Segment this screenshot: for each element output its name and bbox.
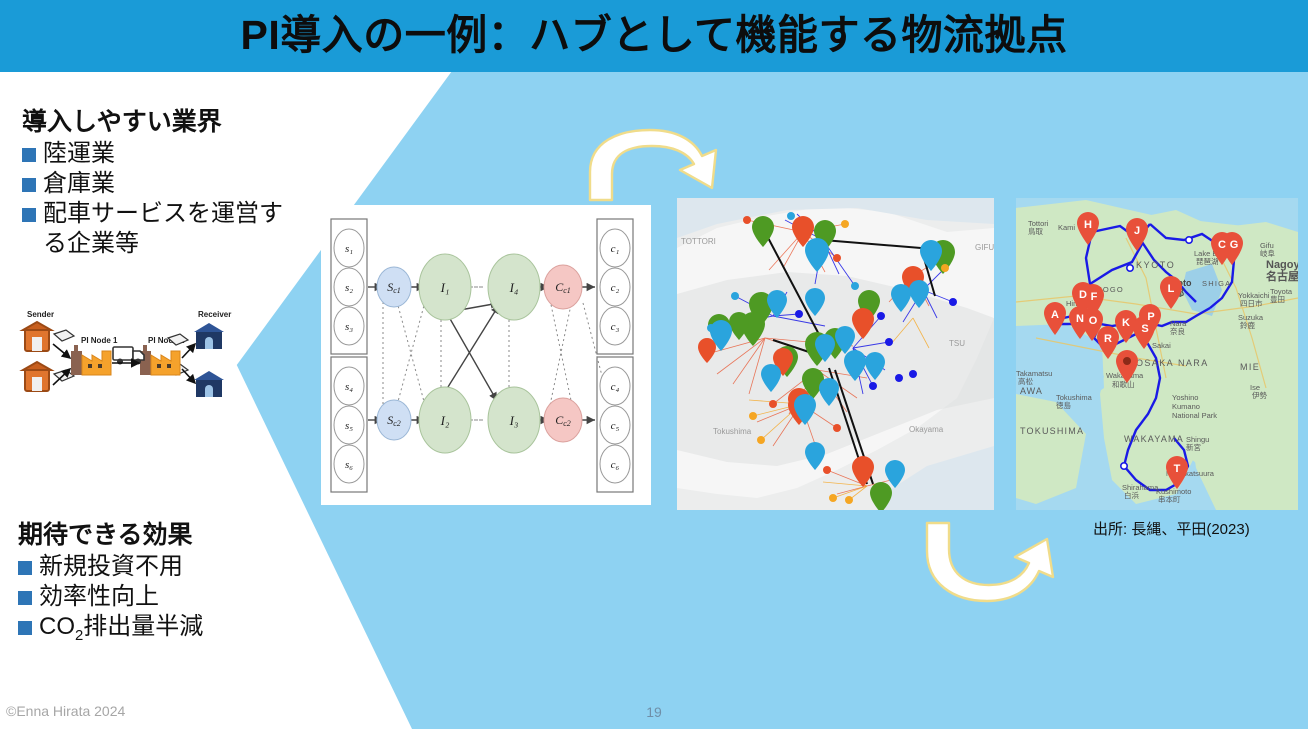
svg-text:s₁: s₁ <box>345 243 353 255</box>
svg-text:岐阜: 岐阜 <box>1260 248 1276 258</box>
svg-text:TOTTORI: TOTTORI <box>681 237 716 246</box>
svg-text:P: P <box>1147 311 1154 323</box>
svg-text:c₅: c₅ <box>611 420 620 432</box>
parcel-icon <box>54 330 74 341</box>
svg-text:s₃: s₃ <box>345 321 353 333</box>
svg-text:s₄: s₄ <box>345 381 353 393</box>
list-item: 効率性向上 <box>18 582 288 611</box>
svg-text:新宮: 新宮 <box>1186 442 1201 452</box>
svg-text:Kumano: Kumano <box>1172 402 1200 411</box>
slide: PI導入の一例：ハブとして機能する物流拠点 導入しやすい業界 陸運業 倉庫業 配… <box>0 0 1308 729</box>
svg-text:NARA: NARA <box>1178 358 1209 368</box>
svg-text:c₄: c₄ <box>611 381 620 393</box>
svg-text:四日市: 四日市 <box>1240 298 1263 308</box>
receiver-store-icon <box>194 323 224 349</box>
svg-text:奈良: 奈良 <box>1170 326 1186 336</box>
pi-node-1-icon <box>71 345 111 375</box>
svg-text:C: C <box>1218 239 1226 251</box>
co2-prefix: CO <box>39 613 75 640</box>
logistics-hub-network-map: TOTTORI GIFU TSU Tokushima Okayama <box>677 198 994 510</box>
svg-text:Nagoya: Nagoya <box>1266 259 1298 271</box>
svg-text:WAKAYAMA: WAKAYAMA <box>1124 434 1184 444</box>
svg-text:AWA: AWA <box>1020 386 1043 396</box>
svg-text:Kami: Kami <box>1058 223 1075 232</box>
page-number: 19 <box>0 704 1308 720</box>
svg-text:Sakai: Sakai <box>1152 341 1171 350</box>
svg-text:SHIGA: SHIGA <box>1202 279 1231 288</box>
pi-label-node1: PI Node 1 <box>81 336 118 345</box>
svg-text:KYOTO: KYOTO <box>1136 260 1175 270</box>
svg-text:N: N <box>1076 313 1084 325</box>
svg-text:I₂: I₂ <box>440 413 450 428</box>
svg-text:Yoshino: Yoshino <box>1172 393 1198 402</box>
svg-text:Tokushima: Tokushima <box>713 427 752 436</box>
kansai-route-map: Tottori 鳥取 Kami Gifu 岐阜 KYOTO Kyoto 京都 S… <box>1016 198 1298 510</box>
svg-text:豊田: 豊田 <box>1270 294 1285 304</box>
curved-arrow-up-icon <box>921 519 1061 603</box>
svg-text:鳥取: 鳥取 <box>1028 226 1044 236</box>
list-item-label: 配車サービスを運営する企業等 <box>43 199 292 258</box>
bullet-square-icon <box>22 208 36 222</box>
intermediate-node <box>419 254 540 453</box>
pi-node-flow-diagram: Sender PI Node 1 PI Node 2 Receiver <box>8 303 240 418</box>
svg-text:I₃: I₃ <box>509 413 519 428</box>
svg-text:c₃: c₃ <box>611 321 620 333</box>
bullet-square-icon <box>22 178 36 192</box>
svg-text:TOKUSHIMA: TOKUSHIMA <box>1020 426 1084 436</box>
svg-text:J: J <box>1134 225 1140 237</box>
svg-text:D: D <box>1079 289 1087 301</box>
svg-text:s₅: s₅ <box>345 420 353 432</box>
source-node <box>334 229 364 483</box>
sender-warehouse-icon <box>23 362 51 391</box>
svg-text:MIE: MIE <box>1240 362 1260 372</box>
effects-block: 期待できる効果 新規投資不用 効率性向上 CO2排出量半減 <box>18 521 288 645</box>
pi-label-sender: Sender <box>27 310 54 319</box>
svg-text:OSAKA: OSAKA <box>1136 358 1174 368</box>
effects-list: 新規投資不用 効率性向上 CO2排出量半減 <box>18 552 288 645</box>
network-diagram-panel: s₁ s₂ s₃ s₄ s₅ s₆ Sc1 Sc2 <box>321 205 651 505</box>
map-source-caption: 出所: 長縄、平田(2023) <box>1093 518 1250 539</box>
pi-label-receiver: Receiver <box>198 310 231 319</box>
svg-text:GIFU: GIFU <box>975 243 994 252</box>
svg-text:鈴鹿: 鈴鹿 <box>1240 320 1256 330</box>
svg-text:伊勢: 伊勢 <box>1252 390 1268 400</box>
svg-text:R: R <box>1104 333 1112 345</box>
svg-text:TSU: TSU <box>949 339 965 348</box>
svg-text:白浜: 白浜 <box>1124 490 1140 500</box>
svg-text:Okayama: Okayama <box>909 425 944 434</box>
industries-block: 導入しやすい業界 陸運業 倉庫業 配車サービスを運営する企業等 <box>22 108 292 258</box>
svg-text:高松: 高松 <box>1018 376 1034 386</box>
svg-text:s₂: s₂ <box>345 282 353 294</box>
list-item-label: CO2排出量半減 <box>39 612 203 645</box>
svg-text:F: F <box>1091 291 1098 303</box>
svg-text:L: L <box>1168 283 1175 295</box>
svg-text:名古屋: 名古屋 <box>1266 269 1298 283</box>
list-item-label: 効率性向上 <box>39 582 159 611</box>
pi-node-2-icon <box>140 345 180 375</box>
list-item-label: 新規投資不用 <box>39 552 183 581</box>
route-pin-dot <box>1123 357 1131 365</box>
sender-warehouse-icon <box>23 322 51 351</box>
svg-text:H: H <box>1084 219 1092 231</box>
industries-heading: 導入しやすい業界 <box>22 108 292 137</box>
svg-text:K: K <box>1122 317 1130 329</box>
svg-text:G: G <box>1230 239 1239 251</box>
receiver-store-icon <box>194 371 224 397</box>
svg-text:s₆: s₆ <box>345 459 353 471</box>
svg-text:O: O <box>1089 315 1098 327</box>
effects-heading: 期待できる効果 <box>18 521 288 550</box>
list-item: 倉庫業 <box>22 169 292 198</box>
svg-text:串本町: 串本町 <box>1158 494 1181 504</box>
svg-text:c₂: c₂ <box>611 282 620 294</box>
bullet-square-icon <box>18 591 32 605</box>
page-title: PI導入の一例：ハブとして機能する物流拠点 <box>0 0 1308 72</box>
bullet-square-icon <box>22 148 36 162</box>
svg-text:和歌山: 和歌山 <box>1112 379 1135 389</box>
list-item-label: 陸運業 <box>43 139 115 168</box>
customer-node <box>600 229 630 483</box>
list-item: CO2排出量半減 <box>18 612 288 645</box>
list-item: 陸運業 <box>22 139 292 168</box>
svg-text:I₁: I₁ <box>440 280 450 295</box>
truck-icon <box>113 347 144 365</box>
curved-arrow-right-icon <box>584 126 732 202</box>
svg-text:徳島: 徳島 <box>1056 400 1072 410</box>
svg-text:A: A <box>1051 309 1059 321</box>
svg-text:S: S <box>1141 323 1148 335</box>
list-item: 配車サービスを運営する企業等 <box>22 199 292 258</box>
svg-text:琵琶湖: 琵琶湖 <box>1196 257 1219 266</box>
svg-text:I₄: I₄ <box>509 280 519 295</box>
svg-text:c₁: c₁ <box>611 243 620 255</box>
list-item: 新規投資不用 <box>18 552 288 581</box>
bullet-square-icon <box>18 621 32 635</box>
bullet-square-icon <box>18 561 32 575</box>
svg-text:T: T <box>1174 463 1181 475</box>
industries-list: 陸運業 倉庫業 配車サービスを運営する企業等 <box>22 139 292 258</box>
svg-text:c₆: c₆ <box>611 459 620 471</box>
svg-text:National Park: National Park <box>1172 411 1217 420</box>
co2-suffix: 排出量半減 <box>83 613 203 640</box>
list-item-label: 倉庫業 <box>43 169 115 198</box>
